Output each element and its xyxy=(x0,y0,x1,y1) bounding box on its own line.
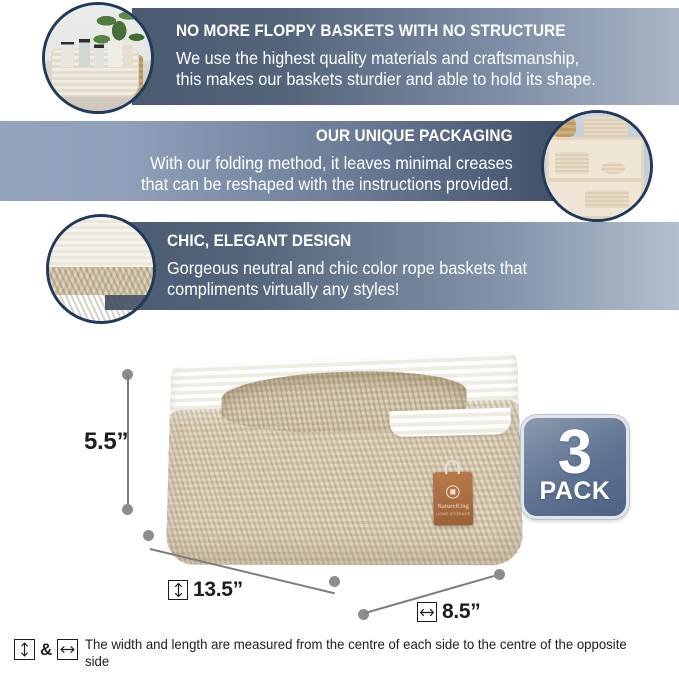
length-dim-dot-right xyxy=(329,576,340,587)
width-dimension-value: 8.5” xyxy=(442,600,481,624)
feature-banner-design: CHIC, ELEGANT DESIGN Gorgeous neutral an… xyxy=(105,222,679,310)
feature-photo-packaging xyxy=(541,110,653,222)
shelf-divider xyxy=(549,216,641,220)
product-infographic: NO MORE FLOPPY BASKETS WITH NO STRUCTURE… xyxy=(0,0,679,673)
woven-pot-icon xyxy=(552,113,576,137)
bowl-icon xyxy=(601,162,625,174)
horizontal-arrow-box-icon xyxy=(57,639,78,660)
basket-icon-top xyxy=(584,117,628,137)
pack-count-number: 3 xyxy=(558,428,592,479)
basket-handle xyxy=(389,408,511,437)
rope-texture-image xyxy=(49,217,153,321)
pack-count-badge: 3 PACK xyxy=(521,415,629,519)
basket-icon-mid-left xyxy=(555,152,589,174)
basket-icon-bottom xyxy=(585,190,629,208)
width-dim-dot-right xyxy=(494,569,505,580)
brand-subtitle: HOME STORAGE xyxy=(433,512,473,516)
disclaimer-text: The width and length are measured from t… xyxy=(85,636,648,673)
height-dim-dot-bottom xyxy=(122,504,133,515)
feature-banner-structure: NO MORE FLOPPY BASKETS WITH NO STRUCTURE… xyxy=(132,8,679,105)
length-dimension-label: 13.5” xyxy=(168,578,243,602)
feature-body-packaging: With our folding method, it leaves minim… xyxy=(141,153,513,196)
horizontal-arrow-box-icon xyxy=(417,602,437,622)
brand-logo-icon xyxy=(446,485,460,499)
bathroom-scene-image xyxy=(45,5,151,111)
feature-photo-design xyxy=(46,214,156,324)
shelf-divider xyxy=(549,178,641,182)
feature-body-structure: We use the highest quality materials and… xyxy=(176,48,596,91)
toiletry-bottles-icon xyxy=(61,33,133,67)
product-photo: NatureKing HOME STORAGE xyxy=(150,352,550,587)
feature-title-design: CHIC, ELEGANT DESIGN xyxy=(167,232,351,251)
feature-banner-packaging: OUR UNIQUE PACKAGING With our folding me… xyxy=(0,121,565,201)
tag-string xyxy=(445,460,460,475)
brand-name: NatureKing xyxy=(433,504,473,511)
feature-photo-structure xyxy=(42,2,154,114)
shelf-scene-image xyxy=(544,113,650,219)
width-dimension-label: 8.5” xyxy=(417,600,481,624)
brand-hang-tag: NatureKing HOME STORAGE xyxy=(433,472,474,526)
vertical-arrow-box-icon xyxy=(14,639,35,660)
measurement-disclaimer: & The width and length are measured from… xyxy=(14,636,666,673)
pack-count-label: PACK xyxy=(540,479,611,504)
feature-title-structure: NO MORE FLOPPY BASKETS WITH NO STRUCTURE xyxy=(176,22,566,41)
rope-weave-detail xyxy=(49,267,153,321)
height-dimension-label: 5.5” xyxy=(84,428,128,456)
length-dim-dot-left xyxy=(143,530,154,541)
ampersand-label: & xyxy=(40,640,52,660)
rope-basket-product-image: NatureKing HOME STORAGE xyxy=(166,351,524,569)
shelf-unit-icon xyxy=(546,137,644,222)
feature-title-packaging: OUR UNIQUE PACKAGING xyxy=(316,127,513,146)
disclaimer-icons: & xyxy=(14,636,78,660)
feature-body-design: Gorgeous neutral and chic color rope bas… xyxy=(167,258,527,301)
vertical-arrow-box-icon xyxy=(168,580,188,600)
length-dimension-value: 13.5” xyxy=(193,578,243,602)
